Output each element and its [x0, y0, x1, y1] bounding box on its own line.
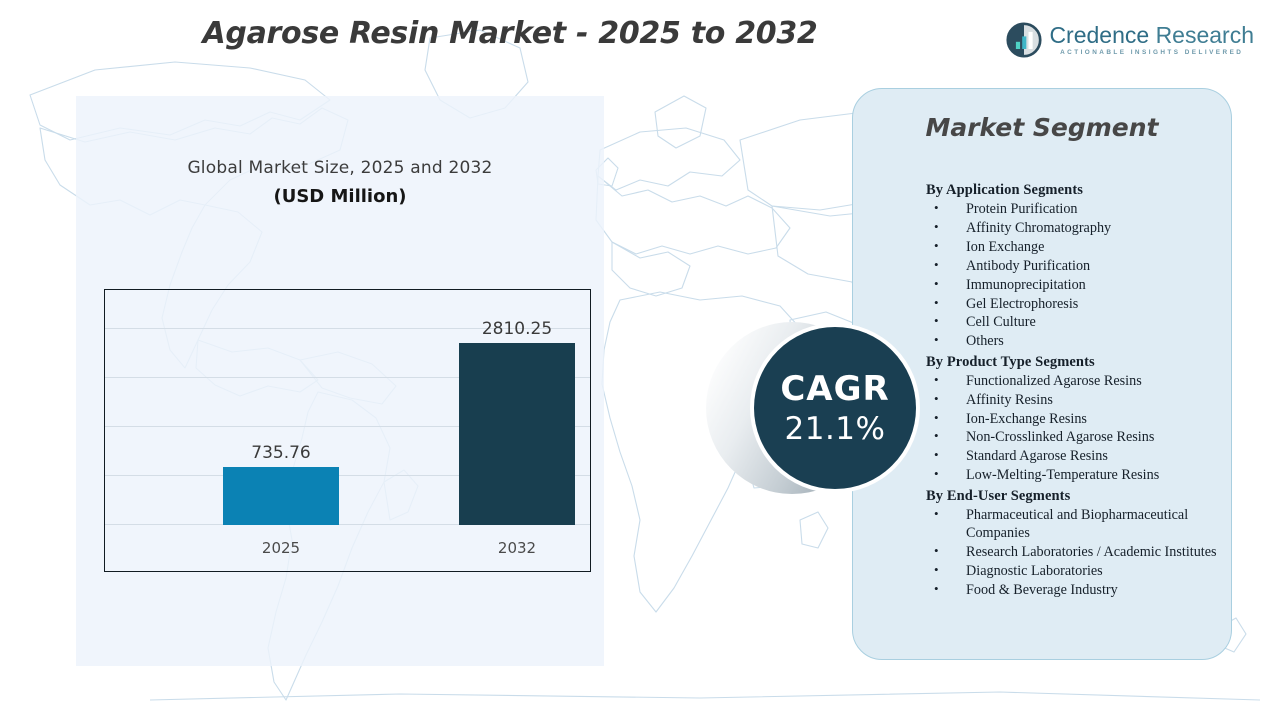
cagr-badge: CAGR 21.1%	[706, 322, 932, 494]
segment-group-heading: By Application Segments	[926, 182, 1219, 199]
chart-bar-group: 2810.25	[459, 313, 575, 525]
segment-group-heading: By Product Type Segments	[926, 354, 1219, 371]
segment-list: Functionalized Agarose ResinsAffinity Re…	[926, 372, 1219, 485]
segment-list-item: Ion-Exchange Resins	[926, 410, 1219, 428]
segment-list-item: Affinity Chromatography	[926, 219, 1219, 237]
segment-list-item: Food & Beverage Industry	[926, 581, 1219, 599]
segment-list: Pharmaceutical and Biopharmaceutical Com…	[926, 506, 1219, 600]
segment-list-item: Functionalized Agarose Resins	[926, 372, 1219, 390]
segment-list-item: Non-Crosslinked Agarose Resins	[926, 428, 1219, 446]
segment-list-item: Antibody Purification	[926, 257, 1219, 275]
bar-chart-circle-icon	[1006, 22, 1042, 58]
chart-category-label-2032: 2032	[459, 539, 575, 557]
segment-list-item: Affinity Resins	[926, 391, 1219, 409]
chart-bar-2032[interactable]	[459, 343, 575, 525]
segment-group-heading: By End-User Segments	[926, 488, 1219, 505]
chart-bar-value-2032: 2810.25	[459, 319, 575, 339]
segment-list-item: Cell Culture	[926, 313, 1219, 331]
segment-list: Protein PurificationAffinity Chromatogra…	[926, 200, 1219, 351]
cagr-value: 21.1%	[785, 411, 886, 447]
brand-logo: Credence Research Actionable Insights De…	[1006, 22, 1254, 58]
cagr-label: CAGR	[780, 369, 889, 409]
chart-heading-line2: (USD Million)	[76, 186, 604, 207]
brand-name-primary: Credence	[1049, 22, 1149, 48]
segment-list-item: Immunoprecipitation	[926, 276, 1219, 294]
chart-heading: Global Market Size, 2025 and 2032 (USD M…	[76, 158, 604, 207]
brand-name-secondary: Research	[1156, 22, 1254, 48]
chart-heading-line1: Global Market Size, 2025 and 2032	[76, 158, 604, 178]
segment-list-item: Diagnostic Laboratories	[926, 562, 1219, 580]
market-segment-title: Market Segment	[853, 113, 1231, 142]
brand-name: Credence Research	[1049, 24, 1254, 48]
page-title: Agarose Resin Market - 2025 to 2032	[0, 16, 1020, 51]
chart-bar-2025[interactable]	[223, 467, 339, 525]
cagr-circle: CAGR 21.1%	[754, 327, 916, 489]
segment-list-item: Protein Purification	[926, 200, 1219, 218]
brand-tagline: Actionable Insights Delivered	[1049, 49, 1254, 56]
chart-bar-group: 735.76	[223, 437, 339, 525]
segment-list-item: Others	[926, 332, 1219, 350]
chart-bar-value-2025: 735.76	[223, 443, 339, 463]
segment-list-item: Standard Agarose Resins	[926, 447, 1219, 465]
market-segment-groups: By Application SegmentsProtein Purificat…	[926, 179, 1219, 600]
chart-plot-area: 735.7620252810.252032	[105, 290, 590, 571]
segment-list-item: Low-Melting-Temperature Resins	[926, 466, 1219, 484]
segment-list-item: Gel Electrophoresis	[926, 295, 1219, 313]
bar-chart: 735.7620252810.252032	[104, 289, 591, 572]
segment-list-item: Research Laboratories / Academic Institu…	[926, 543, 1219, 561]
chart-category-label-2025: 2025	[223, 539, 339, 557]
segment-list-item: Ion Exchange	[926, 238, 1219, 256]
segment-list-item: Pharmaceutical and Biopharmaceutical Com…	[926, 506, 1219, 543]
